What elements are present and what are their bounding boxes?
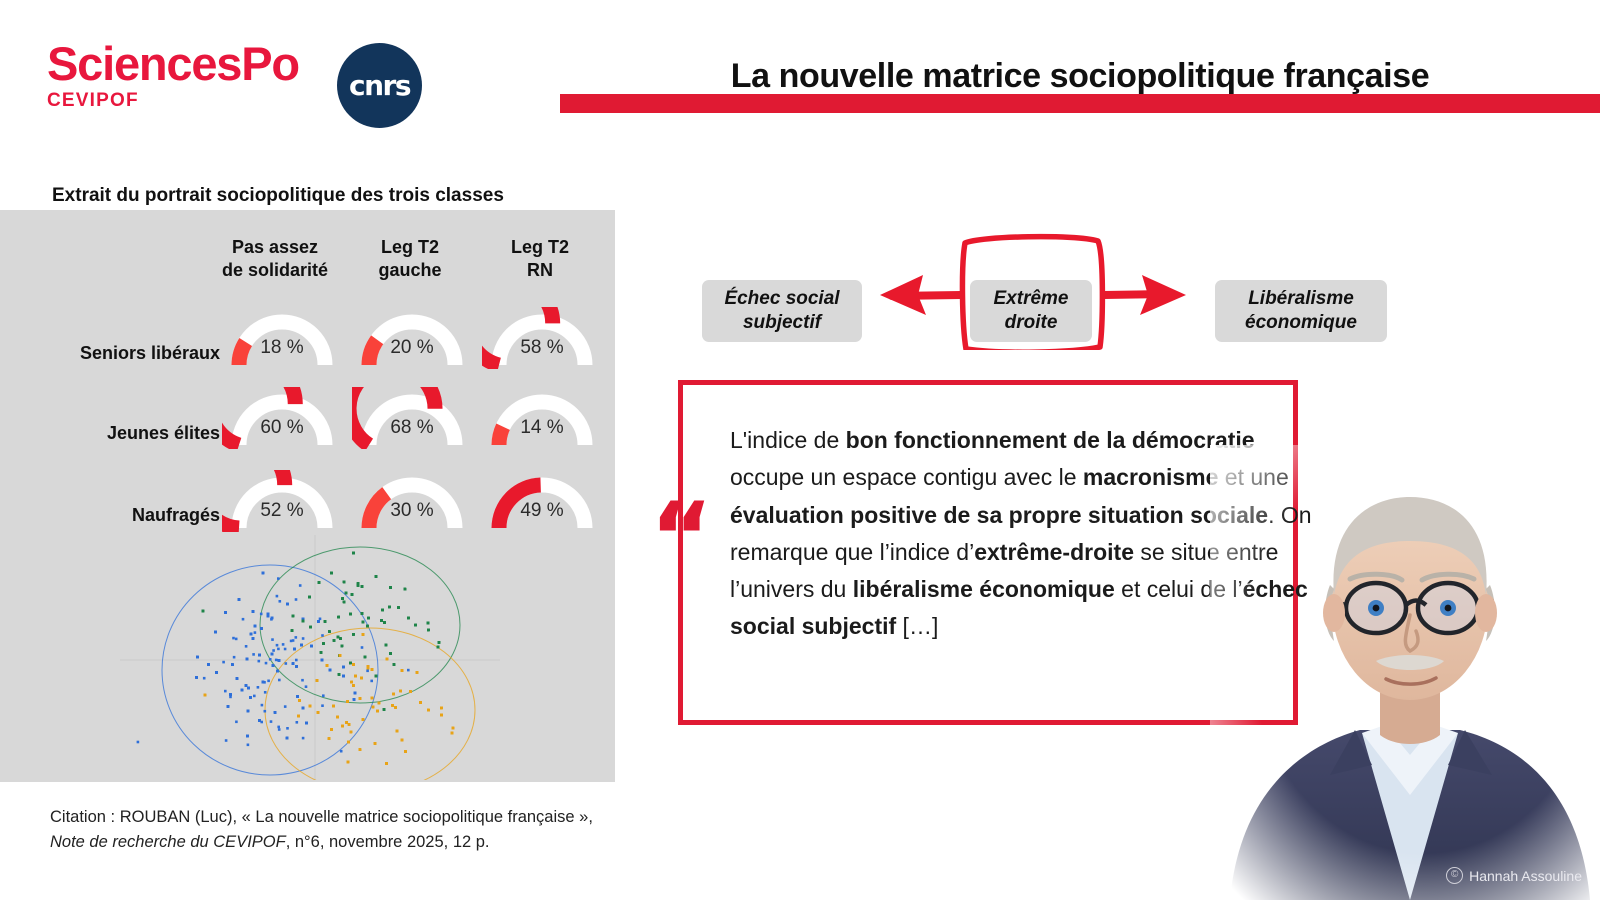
citation-source-detail: , n°6, novembre 2025, 12 p.: [286, 833, 490, 851]
cevipof-wordmark: CEVIPOF: [47, 91, 299, 110]
gauge-jeunes-leg-gauche: 68 %: [352, 387, 472, 449]
copyright-icon: ©: [1446, 867, 1463, 884]
gauge-seniors-leg-rn: 58 %: [482, 307, 602, 369]
panel-caption: Extrait du portrait sociopolitique des t…: [52, 185, 504, 207]
gauge-value: 18 %: [222, 337, 342, 359]
quote-span: occupe un espace contigu avec le: [730, 464, 1083, 490]
sciencespo-logo: SciencesPo CEVIPOF: [47, 40, 299, 110]
citation-line-2: Note de recherche du CEVIPOF, n°6, novem…: [50, 830, 750, 855]
quote-emphasis: macronisme: [1083, 464, 1219, 490]
column-header-leg-gauche: Leg T2 gauche: [335, 236, 485, 281]
gauge-value: 30 %: [352, 500, 472, 522]
title-accent-bar: [560, 94, 1600, 113]
page-title: La nouvelle matrice sociopolitique franç…: [560, 58, 1600, 95]
gauge-jeunes-solidarite: 60 %: [222, 387, 342, 449]
gauge-naufrages-leg-gauche: 30 %: [352, 470, 472, 532]
gauge-value: 58 %: [482, 337, 602, 359]
row-label-seniors: Seniors libéraux: [0, 343, 220, 364]
gauge-naufrages-leg-rn: 49 %: [482, 470, 602, 532]
quote-emphasis: extrême-droite: [974, 539, 1134, 565]
cnrs-wordmark: cnrs: [349, 69, 410, 102]
diagram-box-extreme-droite: Extrême droite: [970, 280, 1092, 342]
cluster-scatter-plot: [120, 535, 500, 780]
row-label-naufrages: Naufragés: [0, 505, 220, 526]
gauge-jeunes-leg-rn: 14 %: [482, 387, 602, 449]
quote-emphasis: évaluation positive de sa propre situati…: [730, 502, 1268, 528]
gauge-value: 20 %: [352, 337, 472, 359]
arrow-left-icon: [880, 275, 961, 315]
gauge-naufrages-solidarite: 52 %: [222, 470, 342, 532]
column-header-leg-rn: Leg T2 RN: [465, 236, 615, 281]
citation: Citation : ROUBAN (Luc), « La nouvelle m…: [50, 805, 750, 855]
portrait-photo: © Hannah Assouline: [1210, 445, 1600, 900]
gauge-seniors-leg-gauche: 20 %: [352, 307, 472, 369]
citation-line-1: Citation : ROUBAN (Luc), « La nouvelle m…: [50, 805, 750, 830]
concept-diagram: Échec social subjectif Extrême droite Li…: [680, 225, 1400, 350]
row-label-jeunes: Jeunes élites: [0, 423, 220, 444]
gauge-value: 68 %: [352, 417, 472, 439]
portrait-illustration: [1210, 445, 1600, 900]
cnrs-disc: cnrs: [337, 43, 422, 128]
quote-span: […]: [896, 613, 938, 639]
arrow-right-icon: [1104, 275, 1186, 315]
quote-mark-icon: “: [650, 505, 713, 572]
quote-span: L'indice de: [730, 427, 846, 453]
photo-credit: © Hannah Assouline: [1446, 867, 1582, 884]
quote-emphasis: bon fonctionnement de la démocratie: [846, 427, 1255, 453]
cnrs-logo: cnrs: [337, 43, 422, 128]
diagram-box-liberalisme: Libéralisme économique: [1215, 280, 1387, 342]
citation-source-title: Note de recherche du CEVIPOF: [50, 833, 286, 851]
gauge-value: 49 %: [482, 500, 602, 522]
photo-credit-name: Hannah Assouline: [1469, 868, 1582, 884]
gauge-value: 52 %: [222, 500, 342, 522]
gauge-seniors-solidarite: 18 %: [222, 307, 342, 369]
quote-emphasis: libéralisme économique: [853, 576, 1115, 602]
diagram-box-echec-social: Échec social subjectif: [702, 280, 862, 342]
gauge-value: 14 %: [482, 417, 602, 439]
sciencespo-wordmark: SciencesPo: [47, 40, 299, 87]
gauge-value: 60 %: [222, 417, 342, 439]
column-header-solidarite: Pas assez de solidarité: [200, 236, 350, 281]
